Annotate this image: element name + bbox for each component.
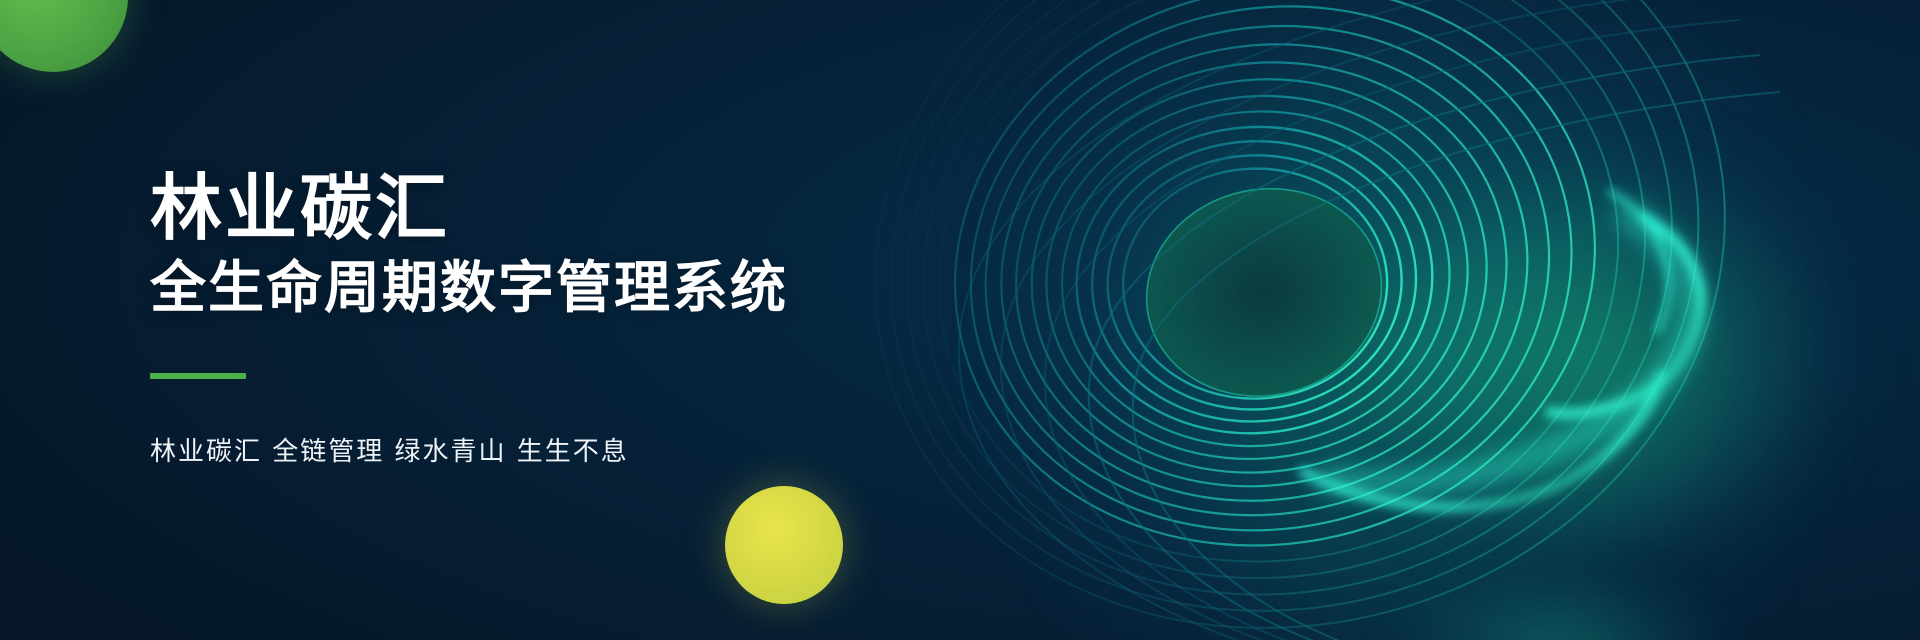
hero-banner: 林业碳汇 全生命周期数字管理系统 林业碳汇 全链管理 绿水青山 生生不息 <box>0 0 1920 640</box>
page-subtitle: 全生命周期数字管理系统 <box>150 260 910 319</box>
hero-text-block: 林业碳汇 全生命周期数字管理系统 林业碳汇 全链管理 绿水青山 生生不息 <box>150 0 910 640</box>
page-title: 林业碳汇 <box>150 172 910 244</box>
tagline: 林业碳汇 全链管理 绿水青山 生生不息 <box>150 431 910 468</box>
accent-divider <box>150 373 246 379</box>
